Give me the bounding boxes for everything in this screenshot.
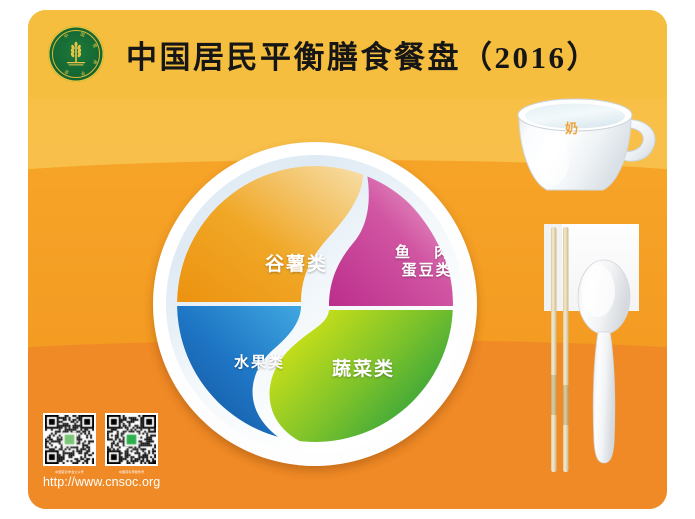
utensils-group — [528, 225, 658, 470]
qr-caption-1: 中国营养学会公众号 — [43, 469, 96, 474]
footer-url[interactable]: http://www.cnsoc.org — [43, 475, 183, 489]
cup-icon — [507, 90, 662, 195]
cup-label: 奶 — [565, 118, 579, 137]
plate-food-area: 谷薯类 鱼 肉 蛋豆类 蔬菜类 水果类 — [177, 166, 453, 442]
diet-plate: 谷薯类 鱼 肉 蛋豆类 蔬菜类 水果类 — [153, 142, 477, 466]
poster-panel: 中国营养学会 中国居民平衡膳食餐盘（2016） — [28, 10, 667, 509]
poster-root: 中国营养学会 中国居民平衡膳食餐盘（2016） — [0, 0, 695, 519]
poster-header: 中国营养学会 中国居民平衡膳食餐盘（2016） — [28, 10, 667, 98]
qr-caption-2: 中国营养界服务号 — [105, 469, 158, 474]
page-title: 中国居民平衡膳食餐盘（2016） — [126, 32, 600, 77]
logo-arc-text: 中国营养学会 — [48, 26, 104, 82]
qr-code-2[interactable] — [105, 413, 158, 466]
cns-logo: 中国营养学会 — [48, 26, 104, 82]
milk-cup: 奶 — [507, 90, 662, 195]
qr-code-1[interactable] — [43, 413, 96, 466]
footer-qr-block: 中国营养学会公众号 中国营养界服务号 http://www.cnsoc.org — [43, 413, 183, 509]
cutlery-icon — [528, 207, 658, 472]
